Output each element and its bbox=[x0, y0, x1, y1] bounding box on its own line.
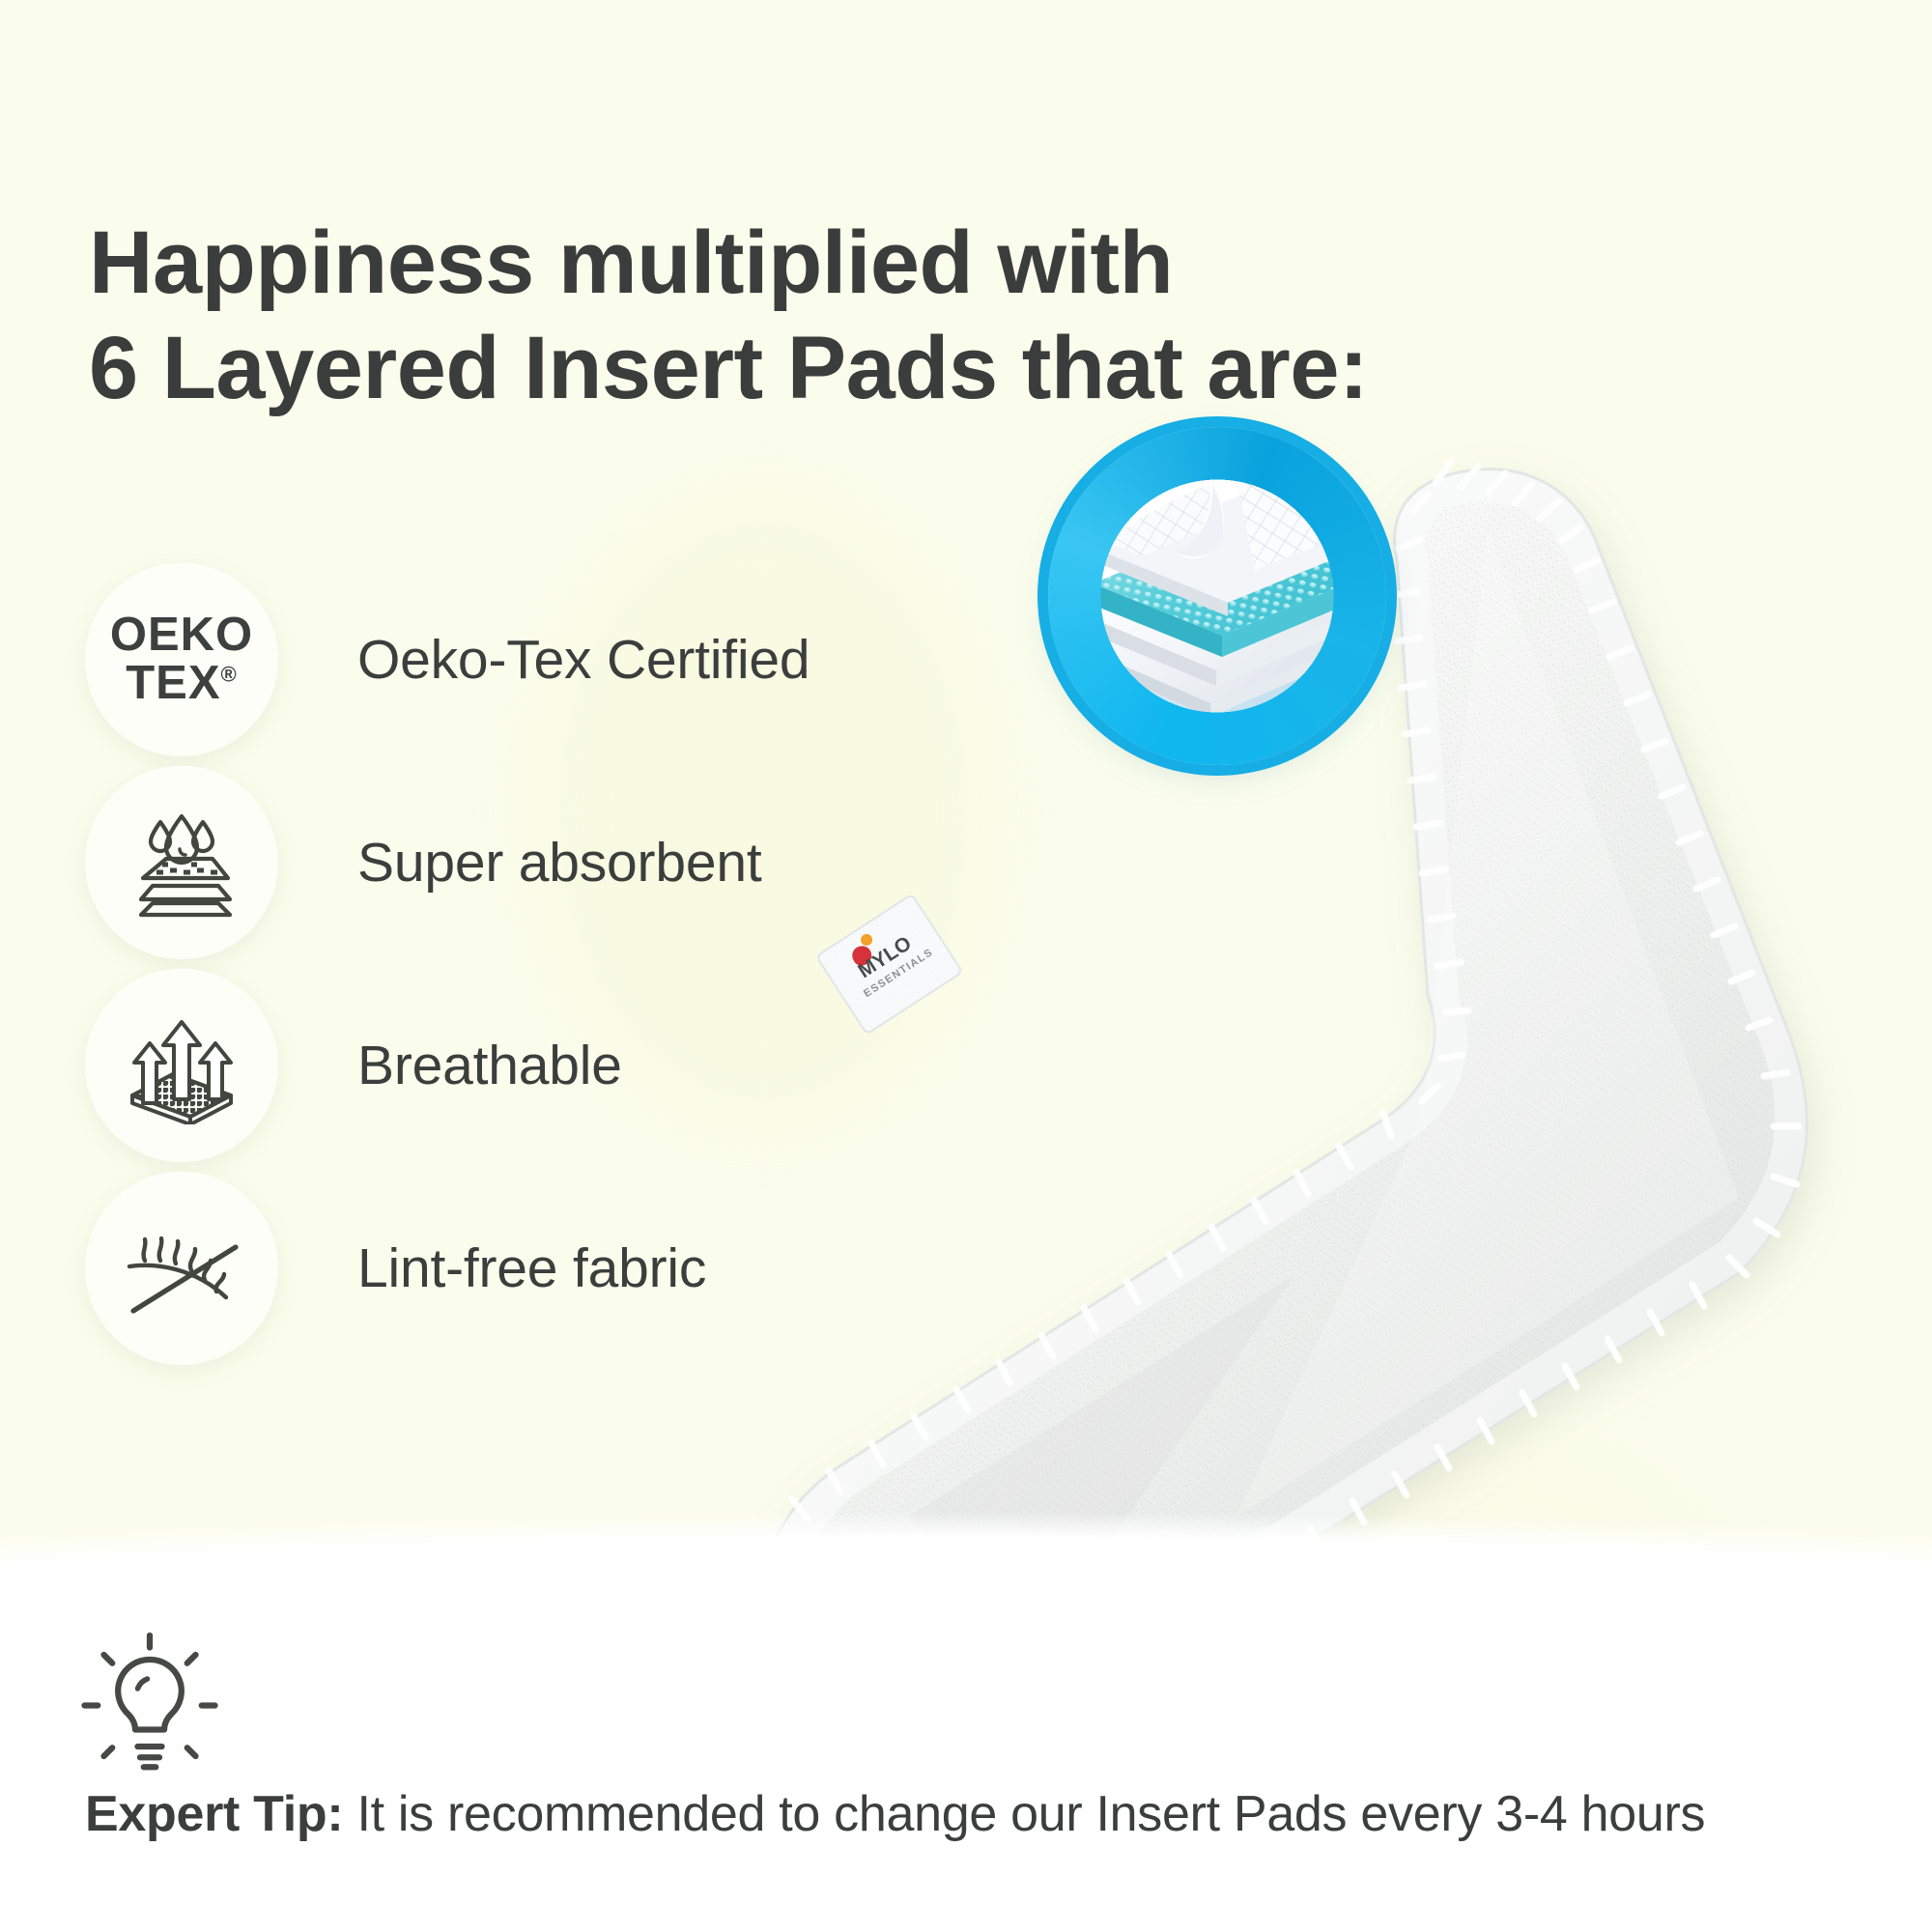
feature-row-super-absorbent: Super absorbent bbox=[85, 761, 1003, 964]
oeko-tex-badge-icon: OEKO TEX® bbox=[85, 563, 278, 756]
water-drops-on-layers-icon bbox=[85, 766, 278, 959]
feature-label-oeko-tex: Oeko-Tex Certified bbox=[357, 628, 810, 692]
feature-list: OEKO TEX® Oeko-Tex Certified bbox=[85, 558, 1003, 1370]
expert-tip-label: Expert Tip: bbox=[85, 1786, 343, 1842]
feature-label-super-absorbent: Super absorbent bbox=[357, 831, 761, 895]
six-layer-cross-section-inset bbox=[1048, 427, 1386, 765]
infographic-canvas: MYLO ESSENTIALS bbox=[0, 0, 1932, 1932]
feature-label-lint-free: Lint-free fabric bbox=[357, 1236, 706, 1300]
upward-arrows-breathable-icon bbox=[85, 969, 278, 1162]
lightbulb-icon bbox=[77, 1631, 222, 1776]
headline-line-2: 6 Layered Insert Pads that are: bbox=[89, 316, 1441, 421]
inset-blue-ring bbox=[1048, 427, 1386, 765]
bottom-white-band bbox=[0, 1584, 1932, 1932]
page-title: Happiness multiplied with 6 Layered Inse… bbox=[89, 211, 1441, 420]
expert-tip-body: It is recommended to change our Insert P… bbox=[343, 1786, 1705, 1842]
feature-row-lint-free: Lint-free fabric bbox=[85, 1167, 1003, 1370]
oeko-badge-line-1: OEKO bbox=[110, 611, 253, 660]
oeko-badge-line-2: TEX bbox=[126, 657, 220, 709]
registered-mark: ® bbox=[221, 663, 238, 687]
feature-label-breathable: Breathable bbox=[357, 1034, 622, 1097]
expert-tip-text: Expert Tip: It is recommended to change … bbox=[85, 1785, 1882, 1843]
feature-row-oeko-tex: OEKO TEX® Oeko-Tex Certified bbox=[85, 558, 1003, 761]
feature-row-breathable: Breathable bbox=[85, 964, 1003, 1167]
lint-free-fabric-icon bbox=[85, 1172, 278, 1365]
headline-line-1: Happiness multiplied with bbox=[89, 213, 1173, 312]
